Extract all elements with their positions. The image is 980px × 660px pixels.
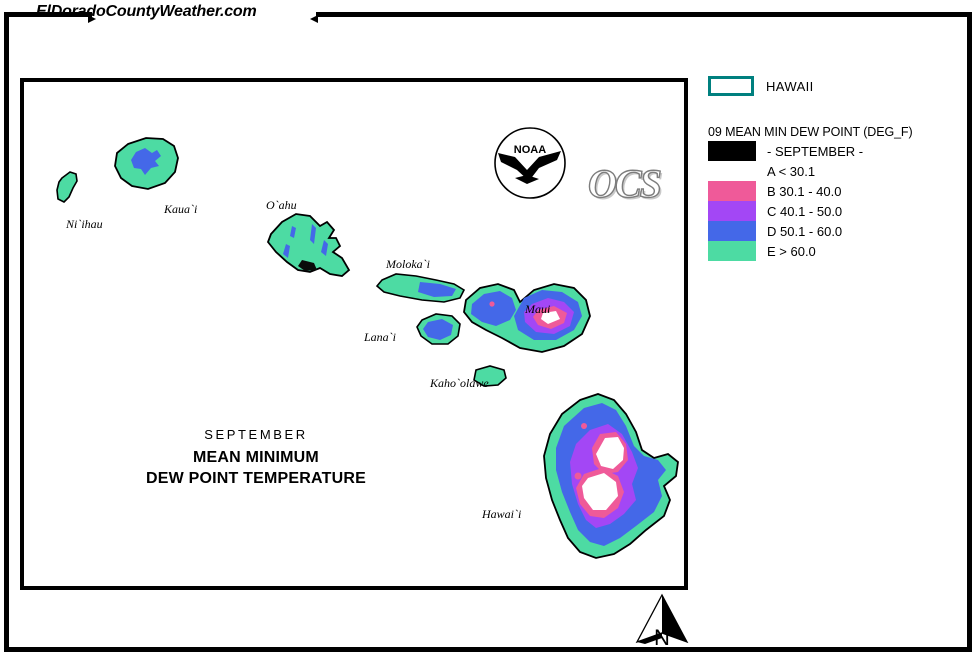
legend-row-subheading: - SEPTEMBER -: [708, 141, 968, 161]
legend-area-row: HAWAII: [708, 76, 968, 96]
title-tab-right-icon: [310, 15, 318, 23]
island-lanai[interactable]: [417, 314, 460, 344]
legend-swatch-b: [708, 181, 756, 201]
noaa-logo-icon: NOAA: [493, 126, 567, 200]
legend-panel: HAWAII 09 MEAN MIN DEW POINT (DEG_F) - S…: [708, 76, 968, 261]
legend-row-class-c: C 40.1 - 50.0: [708, 201, 968, 221]
legend-row-class-d: D 50.1 - 60.0: [708, 221, 968, 241]
legend-area-swatch: [708, 76, 754, 96]
island-hawaii[interactable]: [544, 394, 678, 558]
island-label-hawaii: Hawai`i: [482, 507, 521, 522]
island-kauai[interactable]: [115, 138, 178, 189]
legend-heading: 09 MEAN MIN DEW POINT (DEG_F): [708, 125, 968, 139]
island-label-lanai: Lana`i: [364, 330, 396, 345]
noaa-logo-text: NOAA: [514, 144, 546, 156]
compass-north-label: N: [631, 625, 693, 651]
map-title-month: SEPTEMBER: [116, 427, 396, 442]
island-niihau[interactable]: [57, 172, 77, 202]
island-label-oahu: O`ahu: [266, 198, 297, 213]
page-border-top-right: [316, 12, 972, 17]
legend-row-class-a: A < 30.1: [708, 161, 968, 181]
legend-area-label: HAWAII: [766, 79, 814, 94]
legend-swatch-d: [708, 221, 756, 241]
legend-swatch-black: [708, 141, 756, 161]
hawaii-choropleth-map[interactable]: [24, 82, 684, 586]
ocs-logo-text: OCS: [588, 161, 660, 206]
ocs-logo: OCS: [588, 160, 660, 207]
island-label-kauai: Kaua`i: [164, 202, 197, 217]
map-title-line1: MEAN MINIMUM: [116, 449, 396, 467]
map-panel[interactable]: Ni`ihau Kaua`i O`ahu Moloka`i Lana`i Mau…: [20, 78, 688, 590]
island-label-maui: Maui: [525, 302, 550, 317]
legend-label-d: D 50.1 - 60.0: [767, 224, 842, 239]
legend-label-c: C 40.1 - 50.0: [767, 204, 842, 219]
legend-label-b: B 30.1 - 40.0: [767, 184, 841, 199]
island-oahu[interactable]: [268, 214, 349, 276]
map-title-line2: DEW POINT TEMPERATURE: [116, 470, 396, 488]
island-label-molokai: Moloka`i: [386, 257, 430, 272]
legend-row-class-e: E > 60.0: [708, 241, 968, 261]
island-maui[interactable]: [464, 284, 590, 352]
legend-swatch-e: [708, 241, 756, 261]
map-title-block: SEPTEMBER MEAN MINIMUM DEW POINT TEMPERA…: [116, 427, 396, 488]
legend-label-e: E > 60.0: [767, 244, 816, 259]
legend-row-class-b: B 30.1 - 40.0: [708, 181, 968, 201]
island-molokai[interactable]: [377, 274, 464, 302]
legend-swatch-a: [708, 161, 756, 181]
legend-label-a: A < 30.1: [767, 164, 815, 179]
page-title: ElDoradoCountyWeather.com: [36, 3, 257, 21]
legend-class-block: 09 MEAN MIN DEW POINT (DEG_F) - SEPTEMBE…: [708, 125, 968, 261]
island-label-kahoolawe: Kaho`olawe: [430, 376, 489, 391]
legend-swatch-c: [708, 201, 756, 221]
legend-subheading: - SEPTEMBER -: [767, 144, 863, 159]
island-label-niihau: Ni`ihau: [66, 217, 103, 232]
